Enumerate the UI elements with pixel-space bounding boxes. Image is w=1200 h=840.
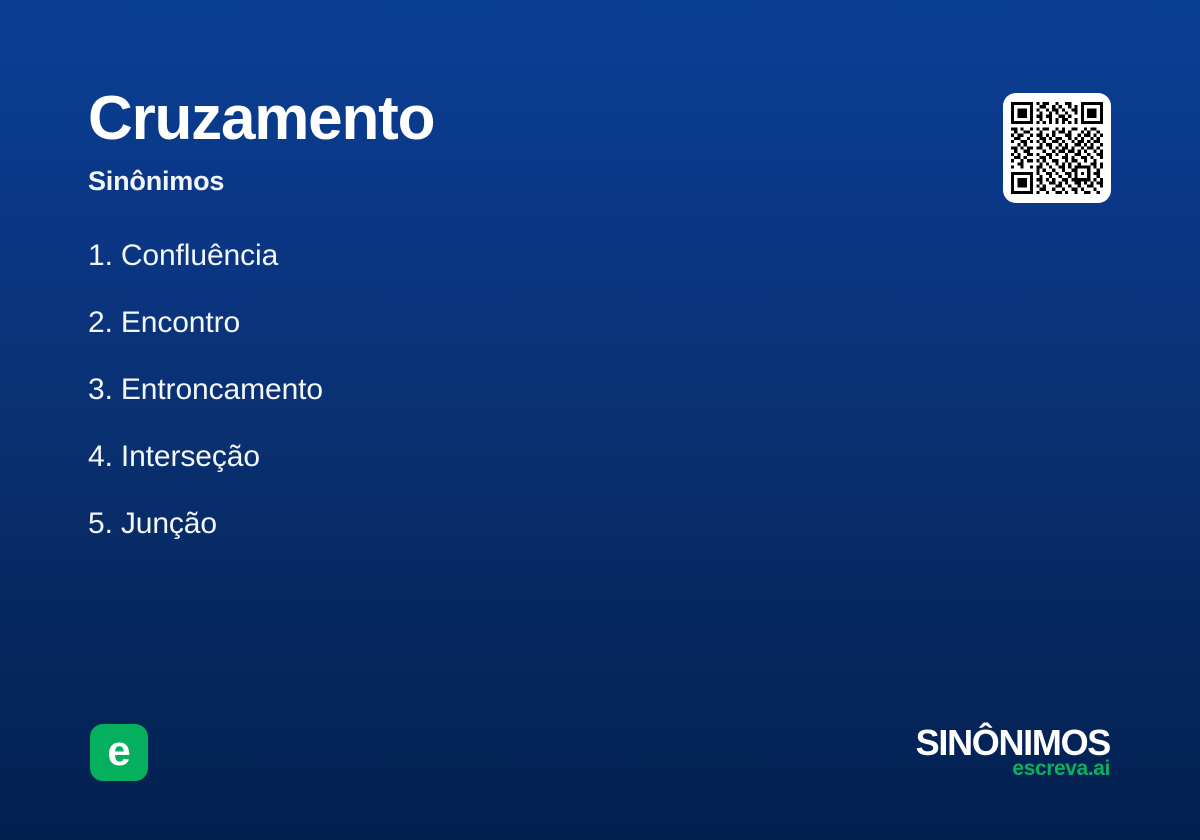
brand-name: SINÔNIMOS bbox=[916, 726, 1110, 760]
list-item-label: Entroncamento bbox=[121, 373, 323, 406]
list-item-index: 5. bbox=[88, 504, 113, 544]
page-title: Cruzamento bbox=[88, 88, 434, 150]
list-item: 1.Confluência bbox=[88, 236, 788, 303]
qr-code[interactable] bbox=[1003, 93, 1111, 203]
escreva-e-logo-icon[interactable]: e bbox=[90, 724, 148, 781]
list-item: 2.Encontro bbox=[88, 303, 788, 370]
list-item-label: Interseção bbox=[121, 440, 260, 473]
list-item-index: 1. bbox=[88, 236, 113, 276]
list-item-index: 4. bbox=[88, 437, 113, 477]
list-item: 3.Entroncamento bbox=[88, 370, 788, 437]
synonym-list: 1.Confluência 2.Encontro 3.Entroncamento… bbox=[88, 236, 788, 571]
page-subtitle: Sinônimos bbox=[88, 166, 224, 197]
list-item-index: 3. bbox=[88, 370, 113, 410]
brand-lockup[interactable]: SINÔNIMOS escreva.ai bbox=[916, 726, 1110, 780]
list-item-label: Junção bbox=[121, 507, 217, 540]
list-item-label: Confluência bbox=[121, 239, 278, 272]
app-badge-letter: e bbox=[107, 730, 130, 772]
qr-code-icon bbox=[1011, 101, 1103, 195]
list-item: 4.Interseção bbox=[88, 437, 788, 504]
list-item-label: Encontro bbox=[121, 306, 240, 339]
list-item: 5.Junção bbox=[88, 504, 788, 571]
list-item-index: 2. bbox=[88, 303, 113, 343]
